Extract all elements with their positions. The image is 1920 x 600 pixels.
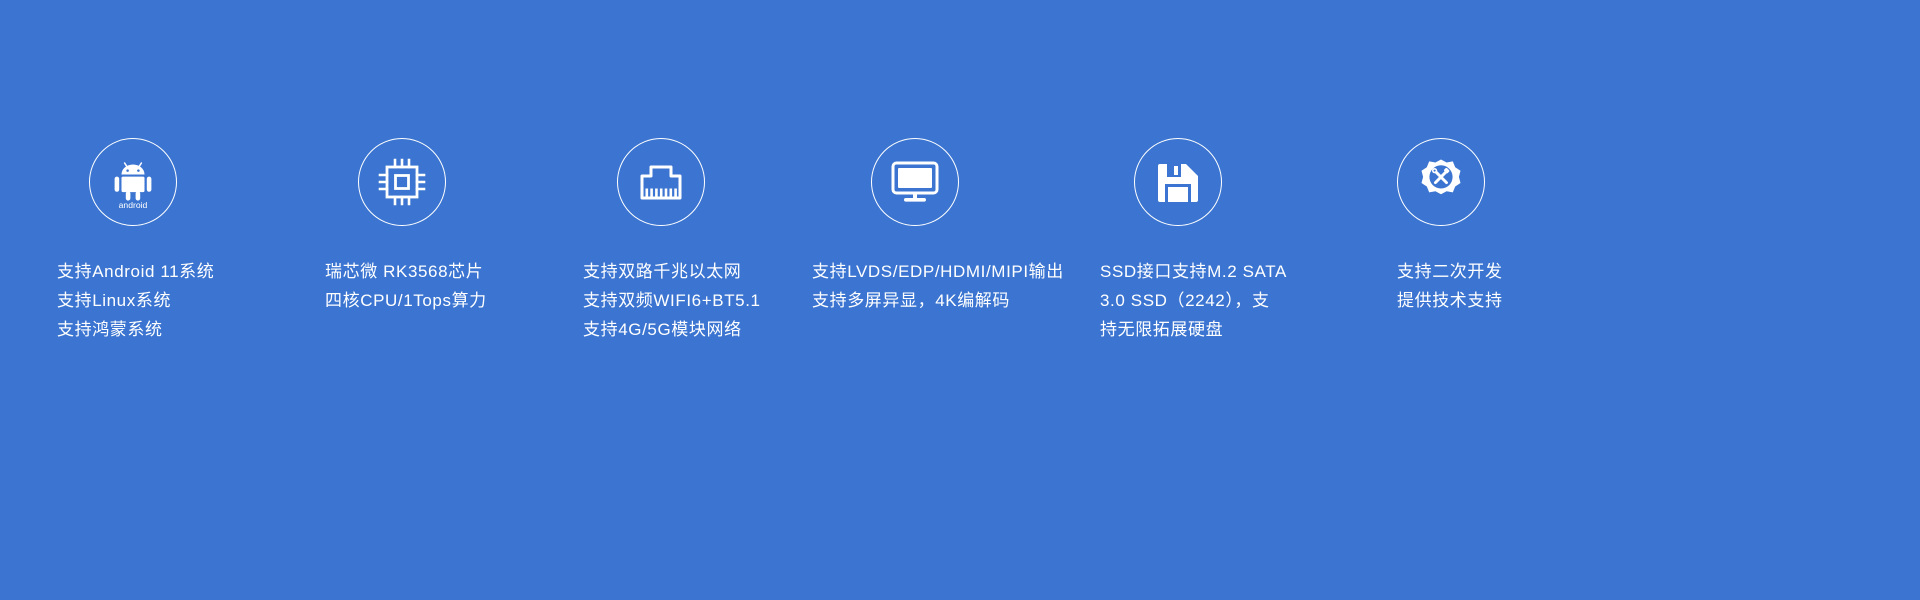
feature-line: 支持双频WIFI6+BT5.1 bbox=[583, 286, 761, 315]
android-robot-icon: android bbox=[89, 138, 177, 226]
feature-text-storage: SSD接口支持M.2 SATA 3.0 SSD（2242），支 持无限拓展硬盘 bbox=[1100, 257, 1287, 344]
feature-line: 四核CPU/1Tops算力 bbox=[325, 286, 487, 315]
feature-line: 持无限拓展硬盘 bbox=[1100, 315, 1287, 344]
feature-line: 支持双路千兆以太网 bbox=[583, 257, 761, 286]
feature-line: 支持Linux系统 bbox=[57, 286, 214, 315]
feature-line: 支持LVDS/EDP/HDMI/MIPI输出 bbox=[812, 257, 1064, 286]
feature-line: 提供技术支持 bbox=[1397, 286, 1503, 315]
icon-container bbox=[1397, 138, 1503, 226]
android-wordmark: android bbox=[119, 200, 148, 210]
ethernet-port-icon bbox=[617, 138, 705, 226]
feature-item-cpu: 瑞芯微 RK3568芯片 四核CPU/1Tops算力 bbox=[325, 138, 487, 315]
icon-container bbox=[583, 138, 795, 226]
feature-item-support: 支持二次开发 提供技术支持 bbox=[1397, 138, 1503, 315]
feature-list: android 支持Android 11系统 支持Linux系统 支持鸿蒙系统 bbox=[0, 0, 1920, 600]
feature-item-network: 支持双路千兆以太网 支持双频WIFI6+BT5.1 支持4G/5G模块网络 bbox=[583, 138, 761, 344]
monitor-display-icon bbox=[871, 138, 959, 226]
icon-container: android bbox=[57, 138, 246, 226]
feature-item-storage: SSD接口支持M.2 SATA 3.0 SSD（2242），支 持无限拓展硬盘 bbox=[1100, 138, 1287, 344]
feature-text-support: 支持二次开发 提供技术支持 bbox=[1397, 257, 1503, 315]
icon-container bbox=[325, 138, 520, 226]
icon-container bbox=[1100, 138, 1321, 226]
feature-item-display: 支持LVDS/EDP/HDMI/MIPI输出 支持多屏异显，4K编解码 bbox=[812, 138, 1064, 315]
floppy-disk-storage-icon bbox=[1134, 138, 1222, 226]
feature-text-android: 支持Android 11系统 支持Linux系统 支持鸿蒙系统 bbox=[57, 257, 214, 344]
feature-line: 支持鸿蒙系统 bbox=[57, 315, 214, 344]
feature-text-cpu: 瑞芯微 RK3568芯片 四核CPU/1Tops算力 bbox=[325, 257, 487, 315]
feature-banner: android 支持Android 11系统 支持Linux系统 支持鸿蒙系统 bbox=[0, 0, 1920, 600]
feature-line: 支持Android 11系统 bbox=[57, 257, 214, 286]
feature-line: 瑞芯微 RK3568芯片 bbox=[325, 257, 487, 286]
feature-line: 支持4G/5G模块网络 bbox=[583, 315, 761, 344]
cpu-chip-icon bbox=[358, 138, 446, 226]
icon-container bbox=[812, 138, 1123, 226]
feature-text-network: 支持双路千兆以太网 支持双频WIFI6+BT5.1 支持4G/5G模块网络 bbox=[583, 257, 761, 344]
gear-tools-support-icon bbox=[1397, 138, 1485, 226]
feature-line: SSD接口支持M.2 SATA bbox=[1100, 257, 1287, 286]
feature-line: 支持二次开发 bbox=[1397, 257, 1503, 286]
feature-text-display: 支持LVDS/EDP/HDMI/MIPI输出 支持多屏异显，4K编解码 bbox=[812, 257, 1064, 315]
feature-item-android: android 支持Android 11系统 支持Linux系统 支持鸿蒙系统 bbox=[57, 138, 214, 344]
feature-line: 支持多屏异显，4K编解码 bbox=[812, 286, 1064, 315]
feature-line: 3.0 SSD（2242），支 bbox=[1100, 286, 1287, 315]
